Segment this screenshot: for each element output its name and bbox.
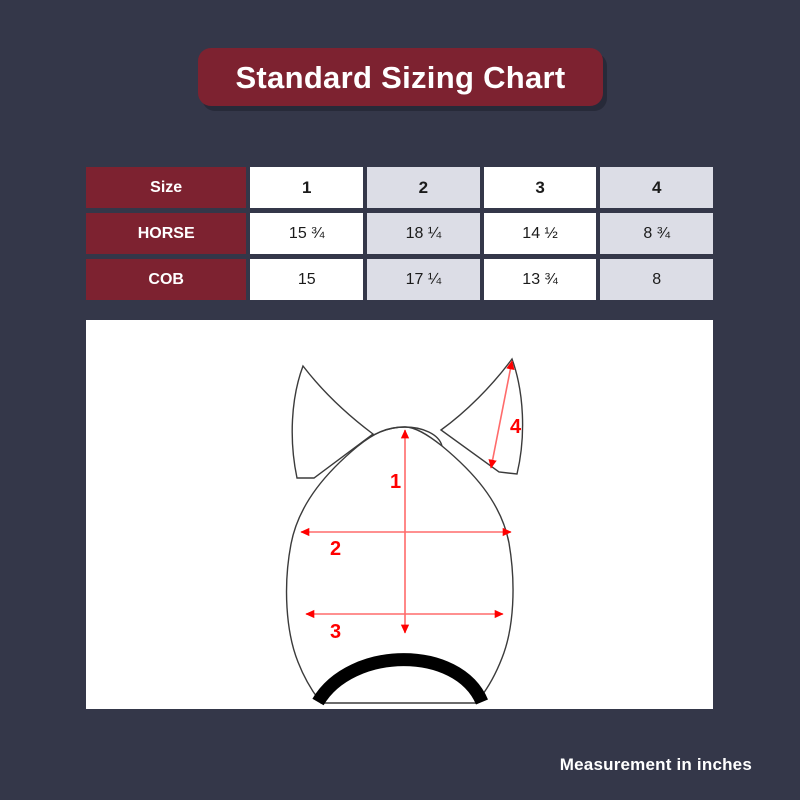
table-header-col-3: 3 <box>480 167 597 208</box>
table-row: COB 15 17 ¼ 13 ¾ 8 <box>86 259 713 300</box>
table-row: HORSE 15 ¾ 18 ¼ 14 ½ 8 ¾ <box>86 213 713 254</box>
cell-cob-size4: 8 <box>596 259 713 300</box>
measurement-label-1: 1 <box>390 471 401 493</box>
table-header-row: Size 1 2 3 4 <box>86 167 713 208</box>
footer-measurement-note: Measurement in inches <box>560 755 752 775</box>
page-title-banner: Standard Sizing Chart <box>198 48 603 106</box>
table-header-col-4: 4 <box>596 167 713 208</box>
nose-band-shape <box>318 660 482 702</box>
cell-cob-size3: 13 ¾ <box>480 259 597 300</box>
page-title: Standard Sizing Chart <box>235 62 565 93</box>
cell-horse-size3: 14 ½ <box>480 213 597 254</box>
title-banner: Standard Sizing Chart <box>198 48 603 106</box>
measurement-label-4: 4 <box>510 416 522 438</box>
measurement-label-2: 2 <box>330 538 341 560</box>
cell-horse-size2: 18 ¼ <box>363 213 480 254</box>
cell-horse-size4: 8 ¾ <box>596 213 713 254</box>
measurement-line-2: 2 <box>301 532 511 560</box>
measurement-label-3: 3 <box>330 621 341 643</box>
row-label-horse: HORSE <box>86 213 246 254</box>
row-label-cob: COB <box>86 259 246 300</box>
table-header-col-2: 2 <box>363 167 480 208</box>
sizing-table: Size 1 2 3 4 HORSE 15 ¾ 18 ¼ 14 ½ 8 ¾ CO… <box>86 162 713 305</box>
table-header-col-1: 1 <box>246 167 363 208</box>
table-header-size: Size <box>86 167 246 208</box>
cell-horse-size1: 15 ¾ <box>246 213 363 254</box>
cell-cob-size2: 17 ¼ <box>363 259 480 300</box>
measurement-diagram-panel: 1 2 3 4 <box>86 320 713 709</box>
cell-cob-size1: 15 <box>246 259 363 300</box>
